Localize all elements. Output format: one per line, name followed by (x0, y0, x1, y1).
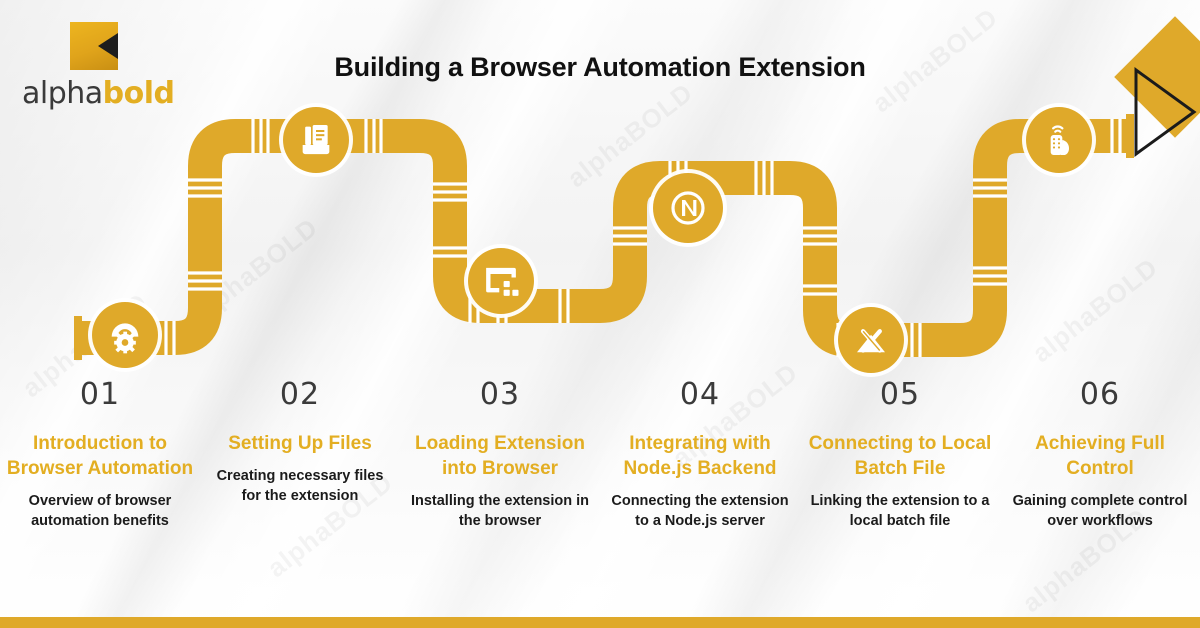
step-heading-6: Achieving Full Control (1006, 431, 1194, 481)
step-description-6: Gaining complete control over workflows (1006, 491, 1194, 531)
step-column-6: 06 Achieving Full Control Gaining comple… (1000, 378, 1200, 618)
step-number-5: 05 (880, 378, 920, 411)
step-column-2: 02 Setting Up Files Creating necessary f… (200, 378, 400, 618)
step-description-3: Installing the extension in the browser (406, 491, 594, 531)
step-icon-2[interactable] (283, 107, 349, 173)
step-number-2: 02 (280, 378, 320, 411)
step-number-4: 04 (680, 378, 720, 411)
infographic-canvas: alphaBOLD alphaBOLD alphaBOLD alphaBOLD … (0, 0, 1200, 628)
step-icon-6[interactable] (1026, 107, 1092, 173)
step-number-1: 01 (80, 378, 120, 411)
page-title: Building a Browser Automation Extension (0, 52, 1200, 83)
step-number-6: 06 (1080, 378, 1120, 411)
gear-automation-icon (105, 315, 145, 355)
step-heading-3: Loading Extension into Browser (406, 431, 594, 481)
bottom-accent-bar (0, 617, 1200, 628)
step-description-4: Connecting the extension to a Node.js se… (606, 491, 794, 531)
pipeline-graphic (0, 88, 1200, 378)
step-column-4: 04 Integrating with Node.js Backend Conn… (600, 378, 800, 618)
step-heading-5: Connecting to Local Batch File (806, 431, 994, 481)
step-description-1: Overview of browser automation benefits (6, 491, 194, 531)
step-heading-4: Integrating with Node.js Backend (606, 431, 794, 481)
step-icon-4[interactable] (653, 173, 723, 243)
step-description-5: Linking the extension to a local batch f… (806, 491, 994, 531)
step-column-3: 03 Loading Extension into Browser Instal… (400, 378, 600, 618)
browser-extension-icon (480, 260, 522, 302)
step-heading-1: Introduction to Browser Automation (6, 431, 194, 481)
step-column-1: 01 Introduction to Browser Automation Ov… (0, 378, 200, 618)
step-icon-5[interactable] (838, 307, 904, 373)
steps-row: 01 Introduction to Browser Automation Ov… (0, 378, 1200, 618)
step-heading-2: Setting Up Files (228, 431, 372, 456)
nodejs-icon (664, 184, 712, 232)
step-description-2: Creating necessary files for the extensi… (206, 466, 394, 506)
step-number-3: 03 (480, 378, 520, 411)
documents-tray-icon (296, 120, 336, 160)
step-icon-3[interactable] (468, 248, 534, 314)
remote-control-icon (1039, 120, 1079, 160)
pipe-main-path (78, 136, 1128, 340)
step-icon-1[interactable] (92, 302, 158, 368)
batch-file-icon (850, 319, 892, 361)
step-column-5: 05 Connecting to Local Batch File Linkin… (800, 378, 1000, 618)
